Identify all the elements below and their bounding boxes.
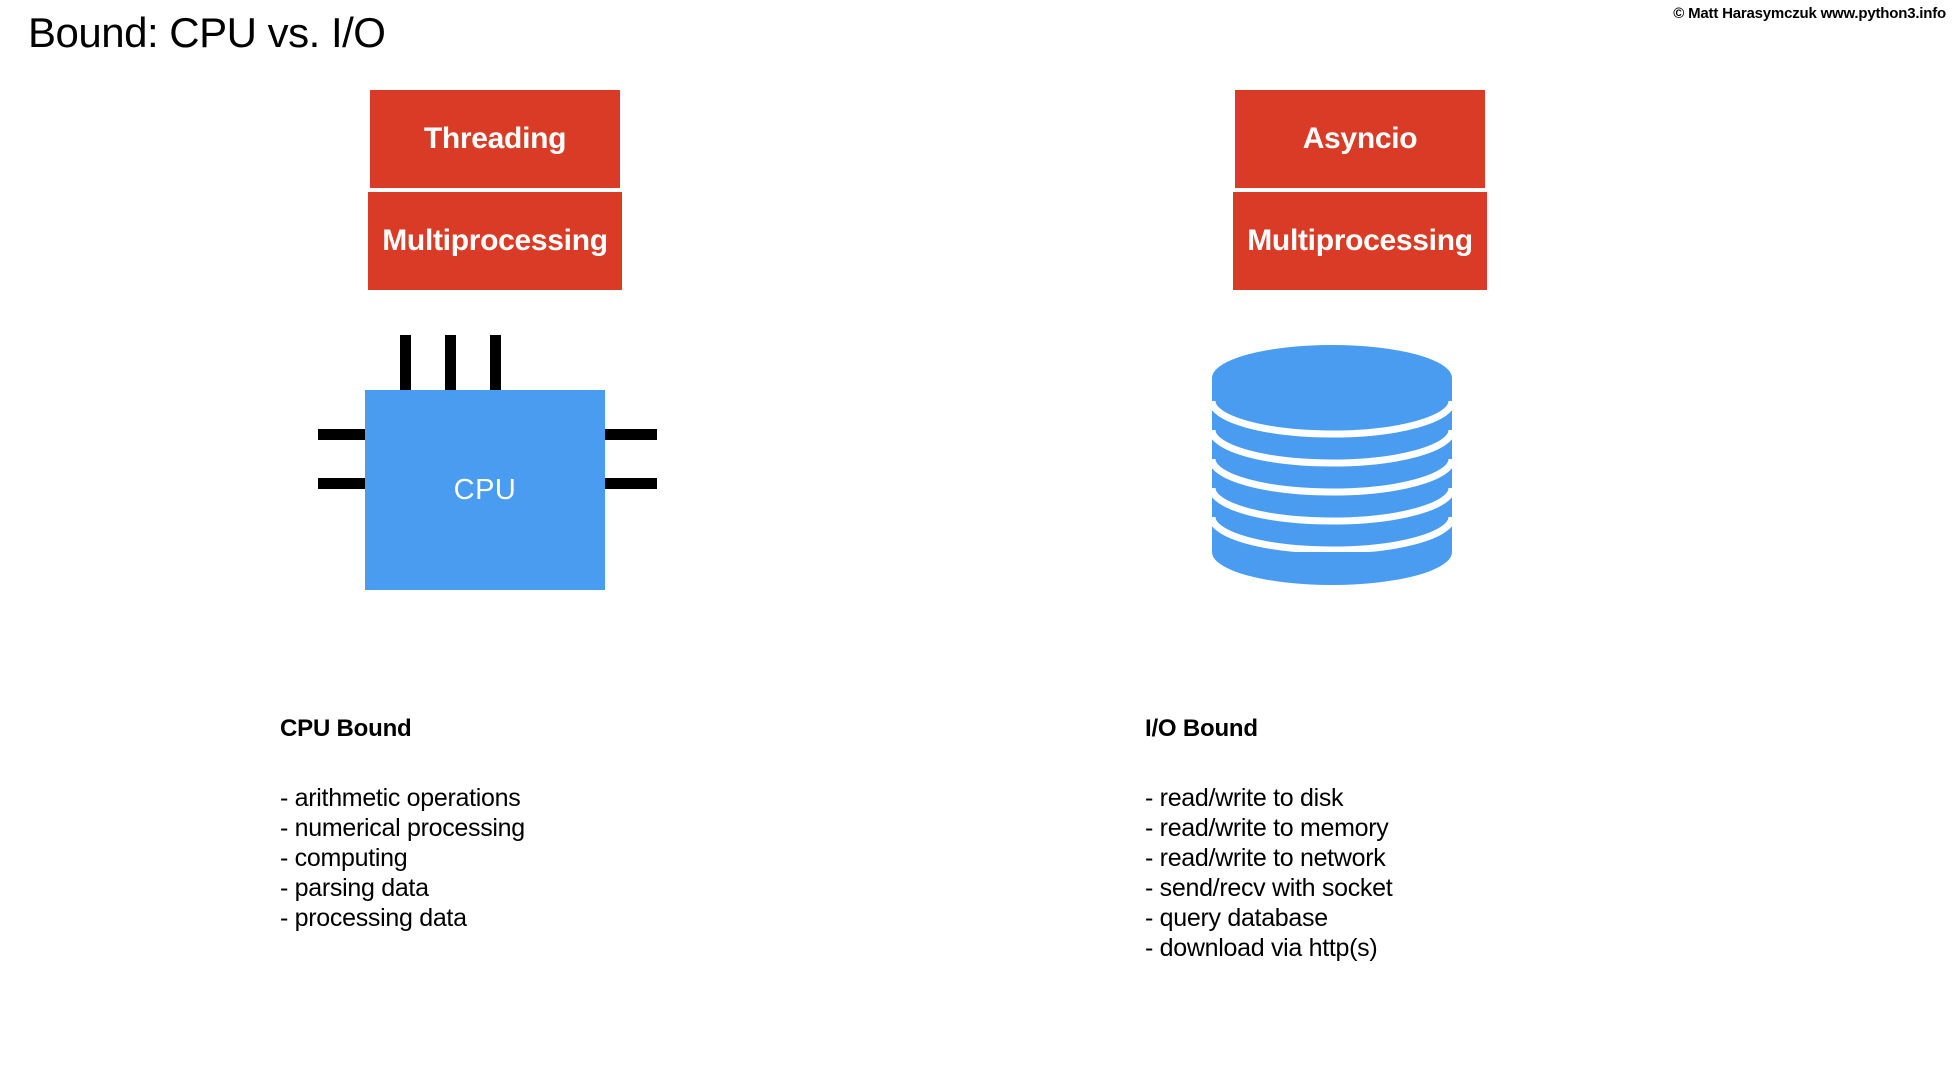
io-module-box-stack: Asyncio Multiprocessing: [1235, 90, 1485, 290]
module-box-threading[interactable]: Threading: [370, 90, 620, 188]
list-item: - processing data: [280, 903, 900, 933]
list-item: - read/write to memory: [1145, 813, 1765, 843]
database-cylinder-icon: [1212, 345, 1452, 585]
list-item: - download via http(s): [1145, 933, 1765, 963]
module-box-label: Threading: [424, 122, 566, 156]
module-box-multiprocessing[interactable]: Multiprocessing: [368, 192, 622, 290]
io-bound-list: - read/write to disk - read/write to mem…: [1145, 783, 1765, 963]
cpu-bound-heading: CPU Bound: [280, 715, 900, 743]
module-box-label: Asyncio: [1303, 122, 1418, 156]
list-item: - read/write to network: [1145, 843, 1765, 873]
cpu-bound-list: - arithmetic operations - numerical proc…: [280, 783, 900, 933]
cpu-module-box-stack: Threading Multiprocessing: [370, 90, 620, 290]
list-item: - query database: [1145, 903, 1765, 933]
list-item: - send/recv with socket: [1145, 873, 1765, 903]
cpu-chip-icon: CPU: [310, 335, 590, 585]
cpu-chip-body: CPU: [365, 390, 605, 590]
list-item: - numerical processing: [280, 813, 900, 843]
io-bound-text-block: I/O Bound - read/write to disk - read/wr…: [1145, 715, 1765, 963]
module-box-label: Multiprocessing: [382, 224, 608, 258]
cpu-bound-text-block: CPU Bound - arithmetic operations - nume…: [280, 715, 900, 933]
module-box-multiprocessing[interactable]: Multiprocessing: [1233, 192, 1487, 290]
module-box-label: Multiprocessing: [1247, 224, 1473, 258]
column-cpu-bound: Threading Multiprocessing CPU CPU Bound …: [250, 0, 1010, 1080]
list-item: - parsing data: [280, 873, 900, 903]
cpu-chip-label: CPU: [454, 474, 517, 507]
io-bound-heading: I/O Bound: [1145, 715, 1765, 743]
module-box-asyncio[interactable]: Asyncio: [1235, 90, 1485, 188]
list-item: - computing: [280, 843, 900, 873]
column-io-bound: Asyncio Multiprocessing: [1115, 0, 1875, 1080]
list-item: - arithmetic operations: [280, 783, 900, 813]
list-item: - read/write to disk: [1145, 783, 1765, 813]
